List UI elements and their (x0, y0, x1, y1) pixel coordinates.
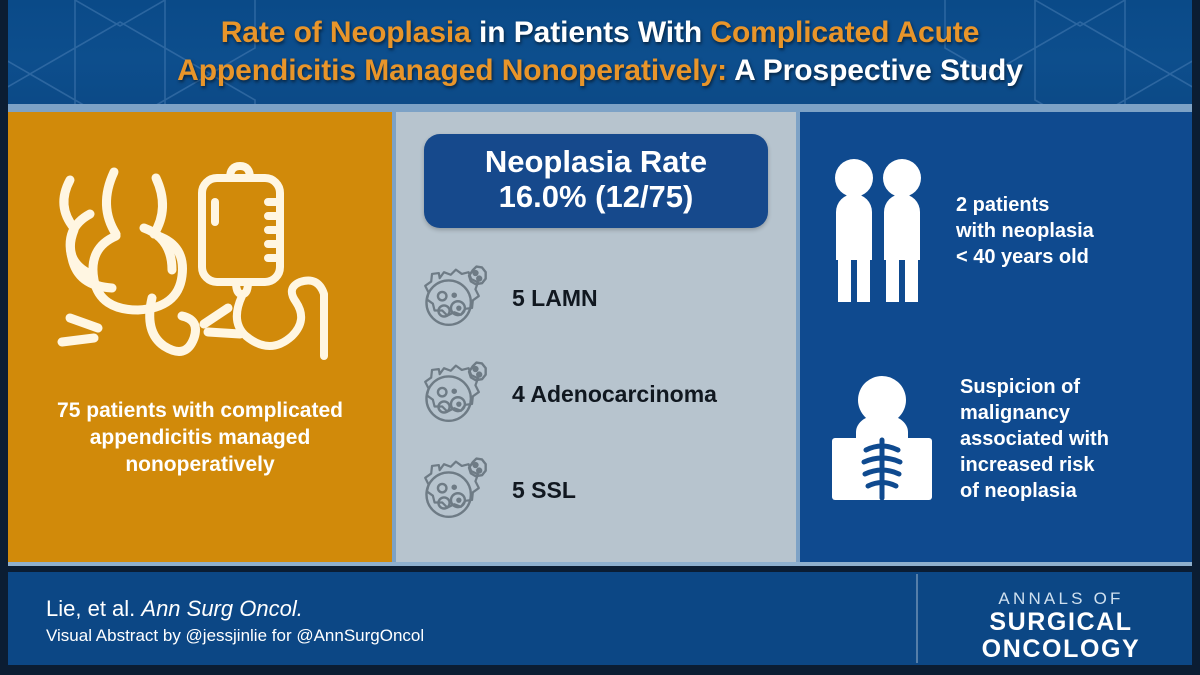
citation-reference: Lie, et al. Ann Surg Oncol. (46, 594, 424, 623)
malignancy-line-1: Suspicion of (960, 374, 1109, 400)
cancer-cell-icon (420, 261, 494, 335)
footer-inner: Lie, et al. Ann Surg Oncol. Visual Abstr… (8, 572, 1192, 665)
logo-line-3: ONCOLOGY (946, 636, 1176, 663)
finding-label: 5 SSL (512, 477, 576, 504)
young-patients-block: 2 patients with neoplasia < 40 years old (800, 146, 1192, 316)
neoplasia-rate-badge: Neoplasia Rate 16.0% (12/75) (424, 134, 768, 228)
right-edge-rail (1192, 0, 1200, 675)
malignancy-suspicion-block: Suspicion of malignancy associated with … (800, 354, 1192, 524)
poster-header: Rate of Neoplasia in Patients With Compl… (0, 0, 1200, 104)
finding-label: 4 Adenocarcinoma (512, 381, 717, 408)
content-band: 75 patients with complicated appendiciti… (0, 104, 1200, 562)
title-segment-orange-a: Rate of Neoplasia (221, 16, 471, 49)
finding-item: 5 LAMN (396, 250, 796, 346)
young-patients-line-3: < 40 years old (956, 244, 1094, 270)
poster-footer: Lie, et al. Ann Surg Oncol. Visual Abstr… (0, 562, 1200, 675)
malignancy-line-2: malignancy (960, 400, 1109, 426)
conclusions-panel: 2 patients with neoplasia < 40 years old (800, 112, 1192, 562)
findings-list: 5 LAMN (396, 250, 796, 538)
cancer-cell-icon (420, 357, 494, 431)
young-patients-line-1: 2 patients (956, 192, 1094, 218)
malignancy-line-4: increased risk (960, 452, 1109, 478)
title-segment-orange-c: Appendicitis Managed Nonoperatively: (177, 54, 727, 87)
two-patients-icon (826, 156, 934, 306)
population-panel: 75 patients with complicated appendiciti… (8, 112, 392, 562)
footer-divider (916, 574, 918, 663)
visual-abstract-poster: Rate of Neoplasia in Patients With Compl… (0, 0, 1200, 675)
finding-label: 5 LAMN (512, 285, 598, 312)
finding-item: 5 SSL (396, 442, 796, 538)
malignancy-line-3: associated with (960, 426, 1109, 452)
malignancy-line-5: of neoplasia (960, 478, 1109, 504)
logo-line-2: SURGICAL (946, 609, 1176, 636)
appendicitis-and-iv-icon-group (40, 158, 360, 366)
population-caption: 75 patients with complicated appendiciti… (35, 398, 365, 479)
citation-authors: Lie, et al. (46, 596, 141, 621)
young-patients-line-2: with neoplasia (956, 218, 1094, 244)
cancer-cell-icon (420, 453, 494, 527)
results-panel: Neoplasia Rate 16.0% (12/75) (396, 112, 796, 562)
malignancy-suspicion-text: Suspicion of malignancy associated with … (960, 374, 1109, 504)
footer-top-strip (0, 562, 1200, 566)
poster-title: Rate of Neoplasia in Patients With Compl… (0, 0, 1200, 104)
title-line-1: Rate of Neoplasia in Patients With Compl… (221, 14, 980, 52)
left-edge-rail (0, 0, 8, 675)
visual-abstract-credit: Visual Abstract by @jessjinlie for @AnnS… (46, 623, 424, 649)
citation: Lie, et al. Ann Surg Oncol. Visual Abstr… (46, 594, 424, 649)
citation-journal: Ann Surg Oncol. (141, 596, 302, 621)
finding-item: 4 Adenocarcinoma (396, 346, 796, 442)
rate-badge-title: Neoplasia Rate (434, 145, 758, 180)
title-line-2: Appendicitis Managed Nonoperatively: A P… (177, 52, 1023, 90)
title-segment-white-b: A Prospective Study (727, 54, 1023, 87)
logo-line-1: ANNALS OF (946, 588, 1176, 609)
xray-torso-icon (826, 374, 938, 504)
title-segment-orange-b: Complicated Acute (710, 16, 979, 49)
title-segment-white-a: in Patients With (471, 16, 711, 49)
rate-badge-value: 16.0% (12/75) (434, 180, 758, 215)
young-patients-text: 2 patients with neoplasia < 40 years old (956, 192, 1094, 270)
iv-bag-icon (202, 166, 324, 356)
journal-logo: ANNALS OF SURGICAL ONCOLOGY (946, 588, 1176, 662)
